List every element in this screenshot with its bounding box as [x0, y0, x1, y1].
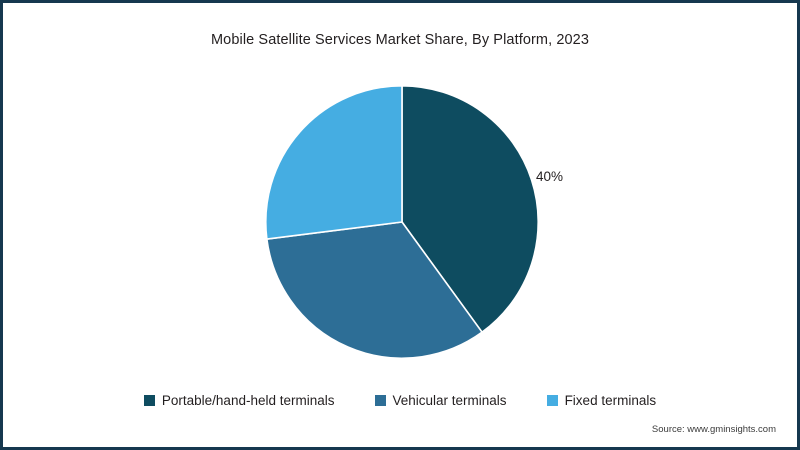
legend-label: Vehicular terminals: [393, 393, 507, 408]
legend-item-vehicular-terminals[interactable]: Vehicular terminals: [375, 393, 507, 408]
pie-svg: [265, 85, 539, 359]
chart-figure: Mobile Satellite Services Market Share, …: [0, 0, 800, 450]
pie-chart: [265, 85, 539, 359]
pie-slice-fixed-terminals[interactable]: [266, 86, 402, 239]
chart-title: Mobile Satellite Services Market Share, …: [0, 32, 800, 48]
legend-label: Fixed terminals: [565, 393, 657, 408]
legend-label: Portable/hand-held terminals: [162, 393, 335, 408]
pie-data-label-portable: 40%: [536, 169, 563, 184]
legend-swatch-icon: [144, 395, 155, 406]
legend-swatch-icon: [547, 395, 558, 406]
legend-item-portable-hand-held-terminals[interactable]: Portable/hand-held terminals: [144, 393, 335, 408]
pie-slices: [266, 86, 538, 358]
chart-legend: Portable/hand-held terminals Vehicular t…: [0, 393, 800, 408]
legend-item-fixed-terminals[interactable]: Fixed terminals: [547, 393, 657, 408]
legend-swatch-icon: [375, 395, 386, 406]
source-attribution: Source: www.gminsights.com: [652, 424, 776, 435]
